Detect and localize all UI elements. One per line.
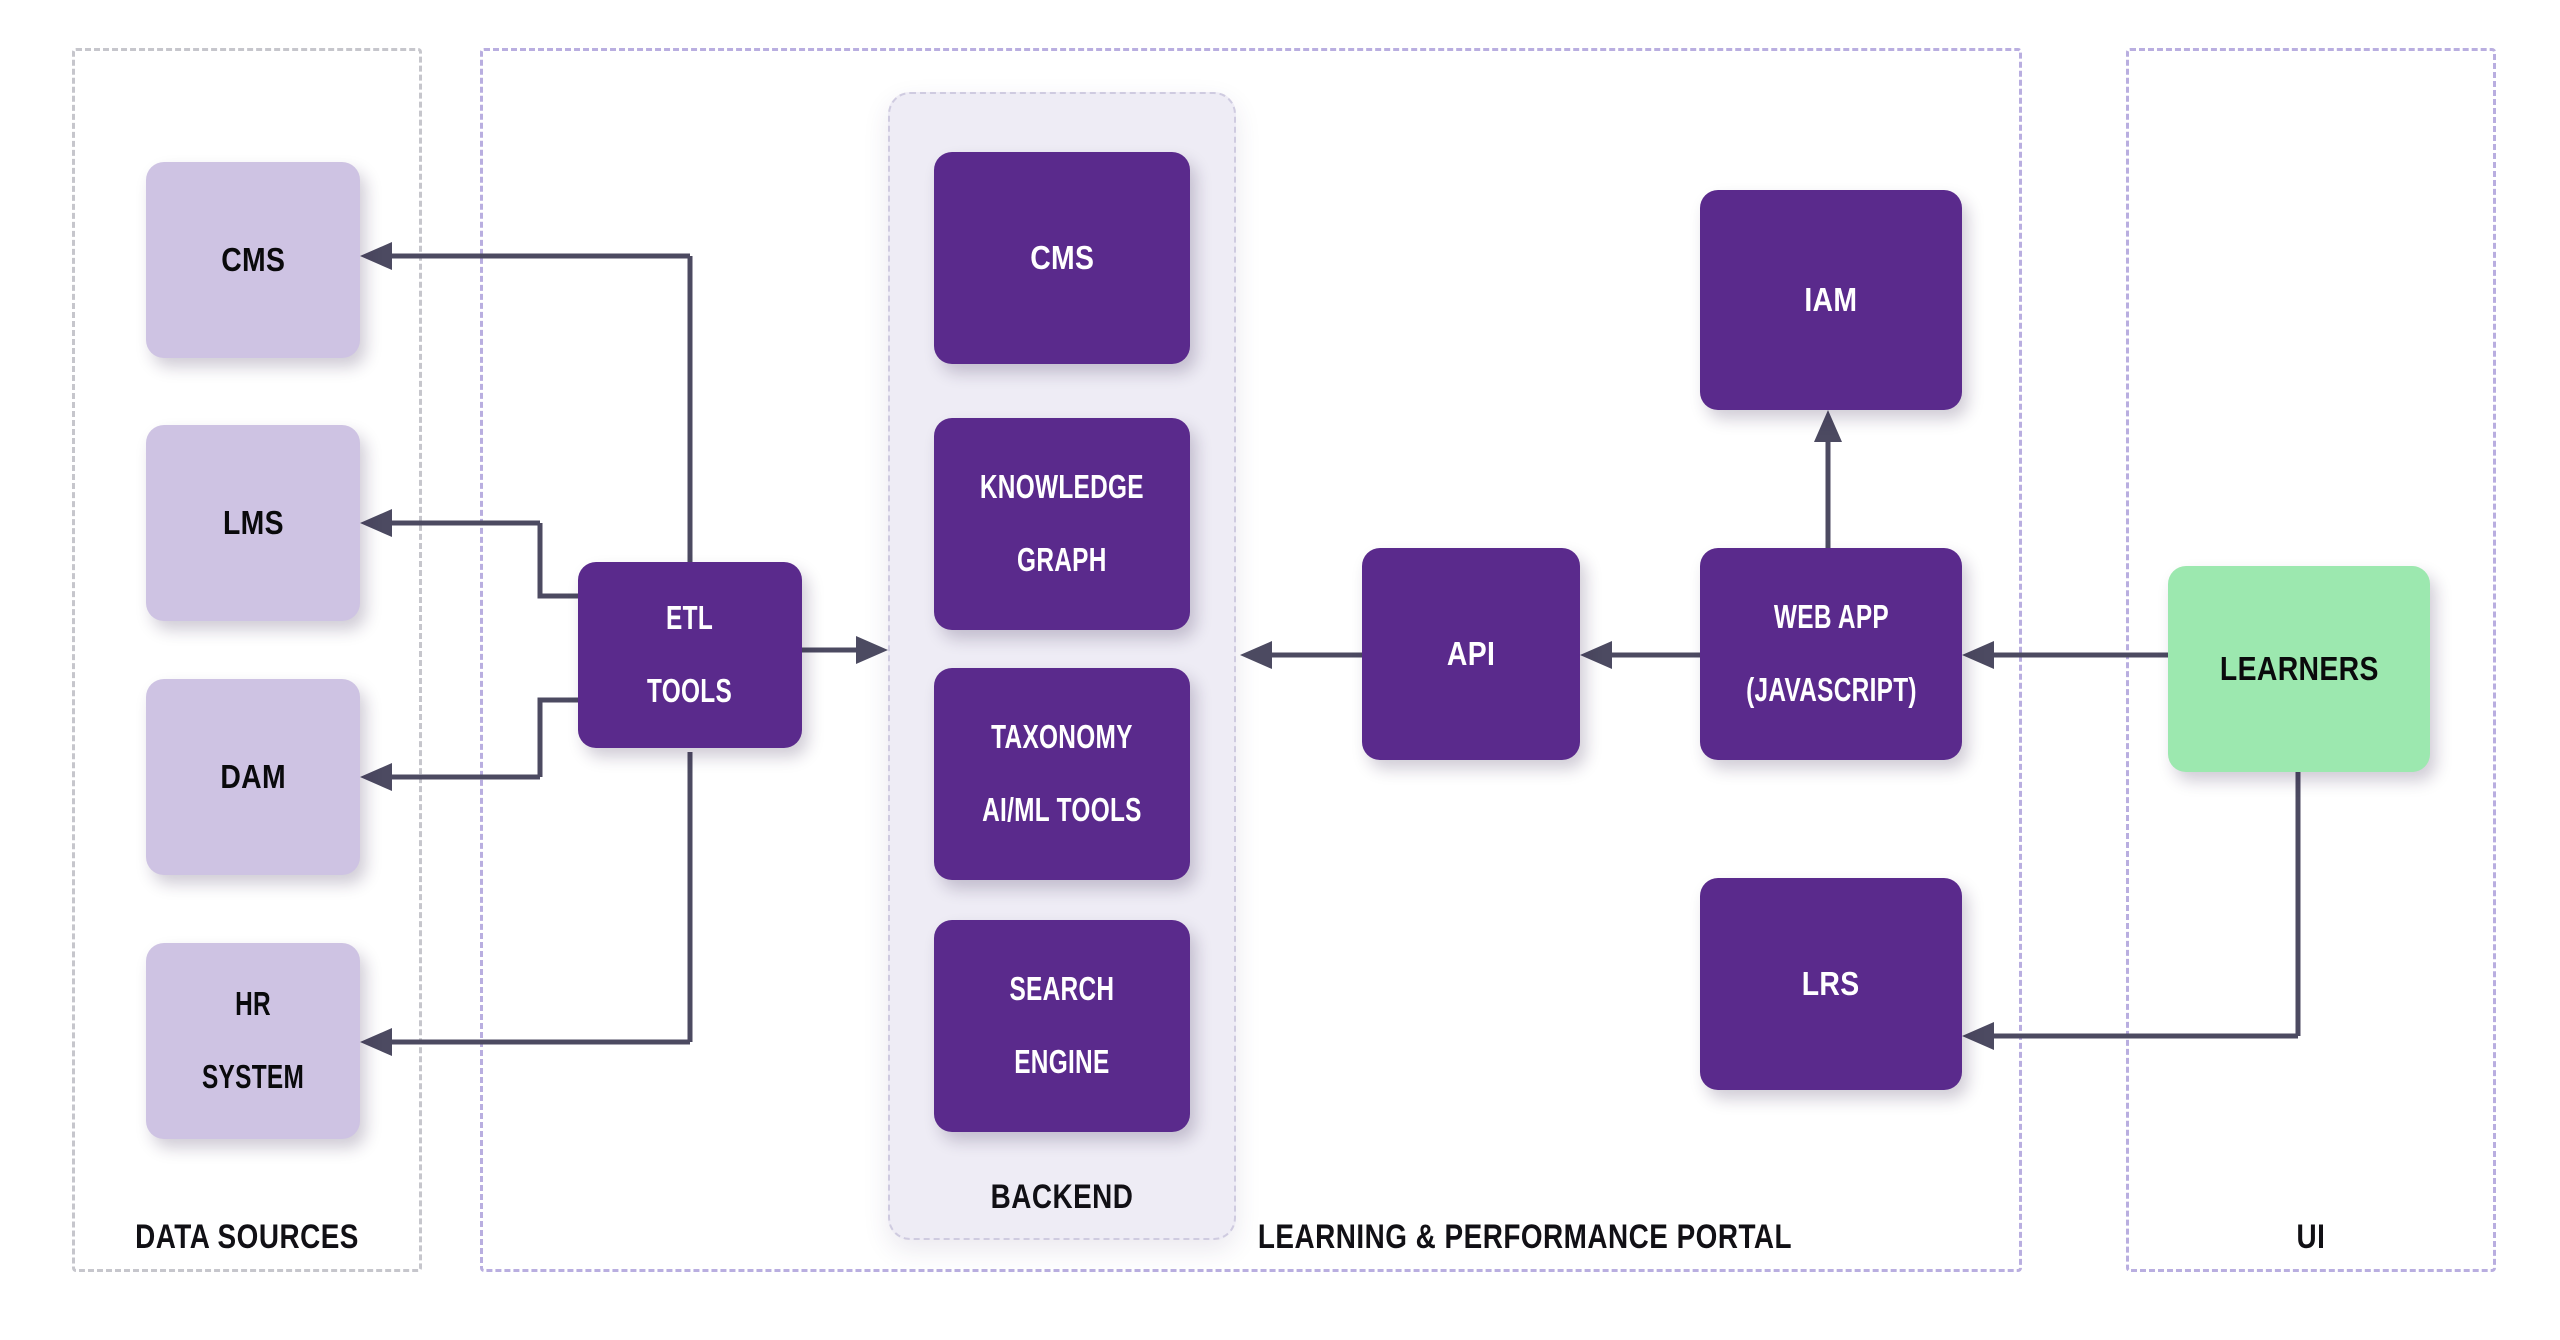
architecture-diagram: DATA SOURCES LEARNING & PERFORMANCE PORT… bbox=[0, 0, 2560, 1340]
node-backend-cms[interactable]: CMS bbox=[934, 152, 1190, 364]
zone-label-ui: UI bbox=[2159, 1218, 2462, 1257]
node-backend-knowledge-graph[interactable]: KNOWLEDGE GRAPH bbox=[934, 418, 1190, 630]
zone-label-data-sources: DATA SOURCES bbox=[104, 1218, 391, 1257]
node-learners-label: LEARNERS bbox=[2220, 651, 2379, 688]
node-source-dam-label: DAM bbox=[220, 759, 286, 796]
node-backend-search-engine-label: SEARCH ENGINE bbox=[1001, 971, 1123, 1082]
node-source-hr-system-label: HR SYSTEM bbox=[194, 986, 313, 1097]
node-source-cms[interactable]: CMS bbox=[146, 162, 360, 358]
node-etl-tools-label: ETL TOOLS bbox=[641, 600, 740, 711]
node-backend-search-engine[interactable]: SEARCH ENGINE bbox=[934, 920, 1190, 1132]
node-iam-label: IAM bbox=[1804, 282, 1857, 319]
node-source-lms-label: LMS bbox=[223, 505, 284, 542]
node-backend-taxonomy-aiml-tools[interactable]: TAXONOMY AI/ML TOOLS bbox=[934, 668, 1190, 880]
node-iam[interactable]: IAM bbox=[1700, 190, 1962, 410]
node-source-dam[interactable]: DAM bbox=[146, 679, 360, 875]
node-source-lms[interactable]: LMS bbox=[146, 425, 360, 621]
node-lrs[interactable]: LRS bbox=[1700, 878, 1962, 1090]
node-source-cms-label: CMS bbox=[221, 242, 285, 279]
node-lrs-label: LRS bbox=[1802, 966, 1860, 1003]
node-web-app[interactable]: WEB APP (JAVASCRIPT) bbox=[1700, 548, 1962, 760]
node-etl-tools[interactable]: ETL TOOLS bbox=[578, 562, 802, 748]
node-backend-cms-label: CMS bbox=[1030, 240, 1094, 277]
zone-label-portal: LEARNING & PERFORMANCE PORTAL bbox=[1119, 1218, 1931, 1257]
node-learners[interactable]: LEARNERS bbox=[2168, 566, 2430, 772]
node-api-label: API bbox=[1447, 636, 1495, 673]
node-backend-taxonomy-aiml-tools-label: TAXONOMY AI/ML TOOLS bbox=[969, 719, 1155, 830]
node-api[interactable]: API bbox=[1362, 548, 1580, 760]
node-source-hr-system[interactable]: HR SYSTEM bbox=[146, 943, 360, 1139]
backend-panel-label: BACKEND bbox=[919, 1178, 1204, 1217]
node-web-app-label: WEB APP (JAVASCRIPT) bbox=[1732, 599, 1931, 710]
node-backend-knowledge-graph-label: KNOWLEDGE GRAPH bbox=[967, 469, 1158, 580]
